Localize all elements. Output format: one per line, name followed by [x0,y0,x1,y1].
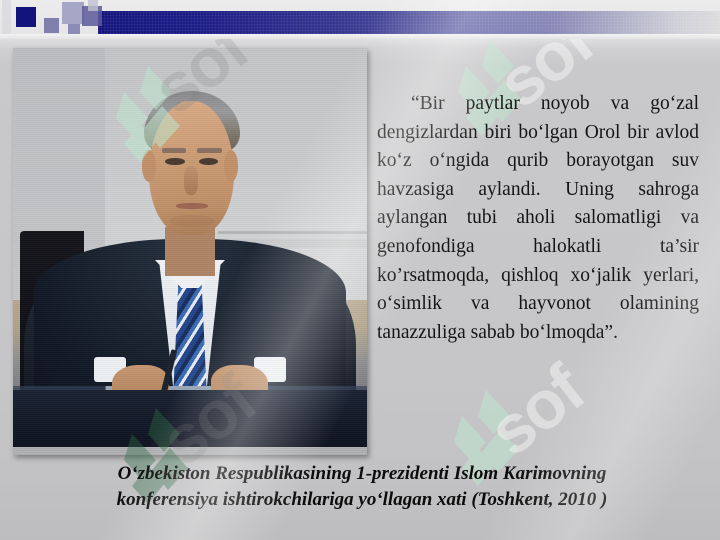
watermark-text: sof [474,351,598,472]
slide-caption: O‘zbekiston Respublikasining 1-prezident… [26,461,698,513]
decor-square-light-tall [2,0,11,34]
decor-square-pale [88,0,98,11]
caption-line-1: O‘zbekiston Respublikasining 1-prezident… [26,461,698,487]
header-gradient-bar [98,11,720,34]
photo-grain-overlay [13,48,367,455]
quote-paragraph: “Bir paytlar noyob va go‘zal dengizlarda… [377,90,699,347]
portrait-photo [13,48,367,455]
decor-square-slate [44,18,59,33]
caption-line-2: konferensiya ishtirokchilariga yo‘llagan… [26,487,698,513]
decor-square-lavender-large [62,2,84,24]
presentation-slide: sof sof sof sof “Bir paytlar noyob va go… [0,0,720,540]
decor-square-navy [16,7,36,27]
slide-header-decoration [0,0,720,46]
header-underline [0,34,720,39]
